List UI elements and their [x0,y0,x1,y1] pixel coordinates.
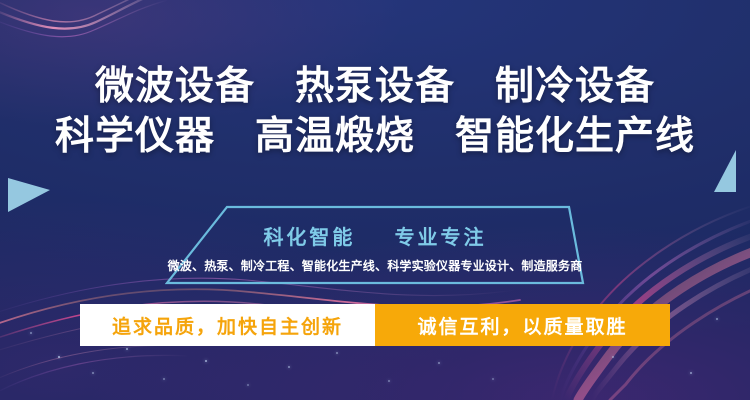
tagline-left: 科化智能 [263,227,355,249]
tagline-right: 专业专注 [395,227,487,249]
headline-line-2: 科学仪器 高温煅烧 智能化生产线 [0,112,750,162]
headline-block: 微波设备 热泵设备 制冷设备 科学仪器 高温煅烧 智能化生产线 [0,62,750,162]
slogan-left: 追求品质，加快自主创新 [80,304,375,346]
panel-subtitle: 微波、热泵、制冷工程、智能化生产线、科学实验仪器专业设计、制造服务商 [110,257,640,274]
slogan-right: 诚信互利，以质量取胜 [375,304,670,346]
tagline-row: 科化智能 专业专注 [165,221,585,250]
headline-line-1: 微波设备 热泵设备 制冷设备 [0,62,750,112]
promo-banner: 微波设备 热泵设备 制冷设备 科学仪器 高温煅烧 智能化生产线 科化智能 专业专… [0,0,750,400]
triangle-right-icon [8,178,50,212]
tagline-panel: 科化智能 专业专注 微波、热泵、制冷工程、智能化生产线、科学实验仪器专业设计、制… [165,205,585,285]
slogan-bar-group: 追求品质，加快自主创新 诚信互利，以质量取胜 [80,304,670,346]
